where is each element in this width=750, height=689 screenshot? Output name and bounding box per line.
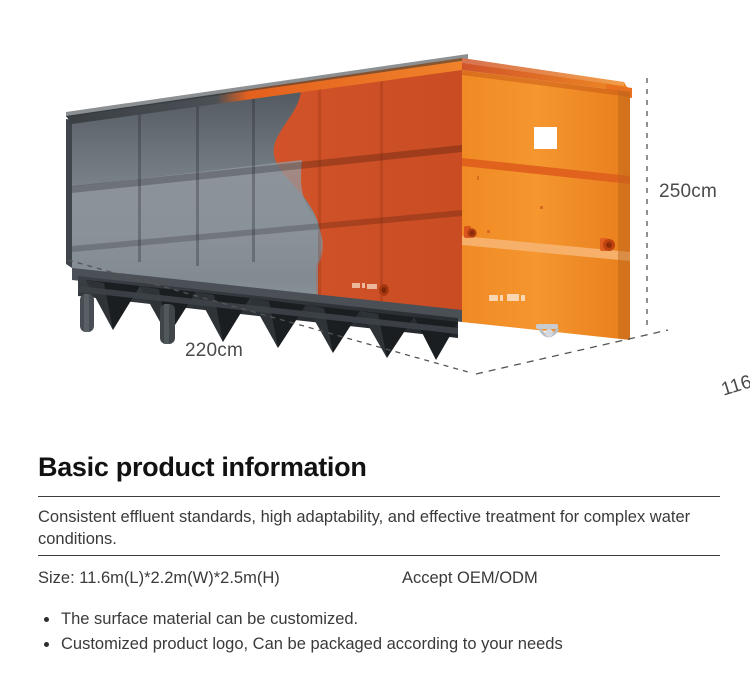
- tank-left-end-cap: [66, 119, 72, 268]
- dimension-label-width: 220cm: [185, 340, 243, 362]
- divider-middle: [38, 555, 720, 556]
- product-label-patch: [534, 127, 557, 149]
- tank-front-face: [462, 70, 630, 340]
- product-image-figure: 220cm 250cm 1160cm: [0, 0, 750, 430]
- product-feature-list: The surface material can be customized. …: [44, 607, 563, 657]
- dimension-label-height: 250cm: [659, 181, 717, 203]
- list-item: The surface material can be customized.: [44, 607, 563, 632]
- divider-top: [38, 496, 720, 497]
- product-description: Consistent effluent standards, high adap…: [38, 506, 698, 551]
- list-item-label: Customized product logo, Can be packaged…: [61, 635, 563, 653]
- list-item: Customized product logo, Can be packaged…: [44, 632, 563, 657]
- product-oem-text: Accept OEM/ODM: [402, 569, 538, 588]
- tank-side-port: [379, 284, 389, 296]
- product-illustration: [0, 0, 750, 430]
- bullet-dot-icon: [44, 642, 49, 647]
- basic-product-information-section: Basic product information Consistent eff…: [0, 430, 750, 689]
- bullet-dot-icon: [44, 617, 49, 622]
- list-item-label: The surface material can be customized.: [61, 610, 358, 628]
- section-title: Basic product information: [38, 452, 367, 483]
- dimension-line-length: [476, 330, 668, 374]
- product-size-text: Size: 11.6m(L)*2.2m(W)*2.5m(H): [38, 569, 280, 588]
